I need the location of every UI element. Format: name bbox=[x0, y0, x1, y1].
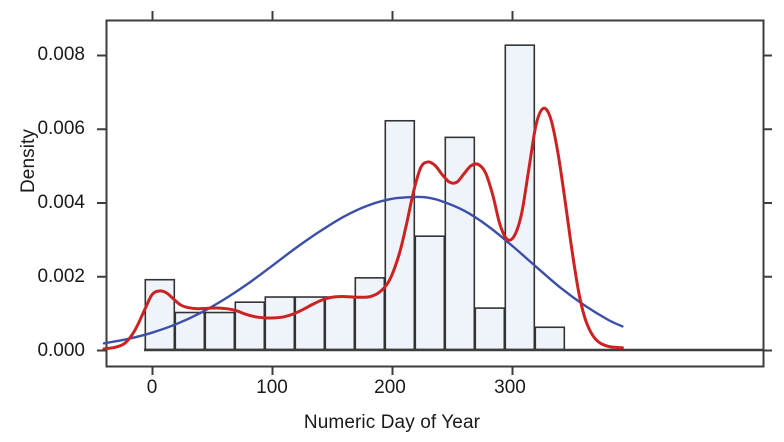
histogram-bar bbox=[325, 297, 354, 349]
histogram-bar bbox=[415, 236, 444, 349]
histogram-bar bbox=[445, 137, 474, 349]
histogram-bar bbox=[385, 121, 414, 350]
histogram-bars bbox=[145, 45, 564, 349]
histogram-bar bbox=[355, 278, 384, 350]
histogram-bar bbox=[475, 308, 504, 349]
histogram-bar bbox=[505, 45, 534, 349]
chart-figure: Density Numeric Day of Year 0.000 0.002 … bbox=[0, 0, 784, 442]
plot-area bbox=[0, 0, 784, 442]
histogram-bar bbox=[535, 327, 564, 349]
histogram-bar bbox=[235, 302, 264, 349]
histogram-bar bbox=[205, 313, 234, 350]
histogram-bar bbox=[265, 297, 294, 349]
